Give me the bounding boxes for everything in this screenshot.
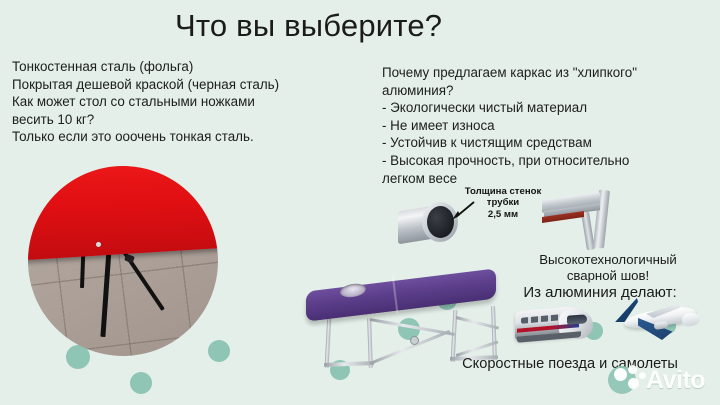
red-table-photo [28, 166, 218, 356]
left-text-line: весить 10 кг? [12, 111, 372, 129]
right-text-block: Почему предлагаем каркас из "хлипкого" а… [382, 64, 712, 187]
aluminium-tube-image [398, 198, 460, 250]
plane-engine [654, 321, 669, 330]
right-text-line: - Устойчив к чистящим средствам [382, 134, 712, 152]
right-text-line: легком весе [382, 170, 712, 188]
purple-tabletop [306, 268, 496, 321]
left-text-line: Как может стол со стальными ножками [12, 93, 372, 111]
right-text-line: - Высокая прочность, при относительно [382, 152, 712, 170]
high-speed-train-image [515, 300, 597, 345]
page-title: Что вы выберите? [175, 8, 442, 44]
left-text-block: Тонкостенная сталь (фольга) Покрытая деш… [12, 58, 372, 146]
left-text-line: Только если это ооочень тонкая сталь. [12, 128, 372, 146]
avito-watermark: Avito [608, 362, 712, 398]
train-windshield [567, 314, 587, 324]
avito-logo-dot [639, 372, 646, 379]
aluminium-leg [325, 314, 332, 368]
right-text-line: - Экологически чистый материал [382, 99, 712, 117]
decor-circle [130, 372, 152, 394]
callout-line: 2,5 мм [460, 209, 546, 220]
tube-thickness-callout: Толщина стенок трубки 2,5 мм [460, 186, 546, 220]
brace-node [410, 336, 419, 345]
aluminium-foot-rail [324, 361, 374, 366]
right-text-line: - Не имеет износа [382, 117, 712, 135]
right-text-line: Почему предлагаем каркас из "хлипкого" [382, 64, 712, 82]
callout-line: Толщина стенок [460, 186, 546, 197]
left-text-line: Тонкостенная сталь (фольга) [12, 58, 372, 76]
weld-caption-line: Высокотехнологичный [496, 252, 720, 268]
avito-logo-dot [614, 368, 627, 381]
airplane-image [608, 298, 700, 346]
avito-logo-dot [628, 365, 637, 374]
weld-caption-line: сварной шов! [496, 268, 720, 284]
right-text-line: алюминия? [382, 82, 712, 100]
slide-canvas: Что вы выберите? Тонкостенная сталь (фол… [0, 0, 720, 405]
left-text-line: Покрытая дешевой краской (черная сталь) [12, 76, 372, 94]
plane-nose [681, 312, 701, 328]
callout-line: трубки [460, 197, 546, 208]
red-tabletop [28, 166, 218, 261]
weld-joint-image [542, 188, 618, 250]
avito-logo-dot [628, 378, 639, 389]
aluminium-leg [491, 306, 497, 360]
avito-wordmark: Avito [646, 366, 705, 395]
weld-caption: Высокотехнологичный сварной шов! [496, 252, 720, 284]
